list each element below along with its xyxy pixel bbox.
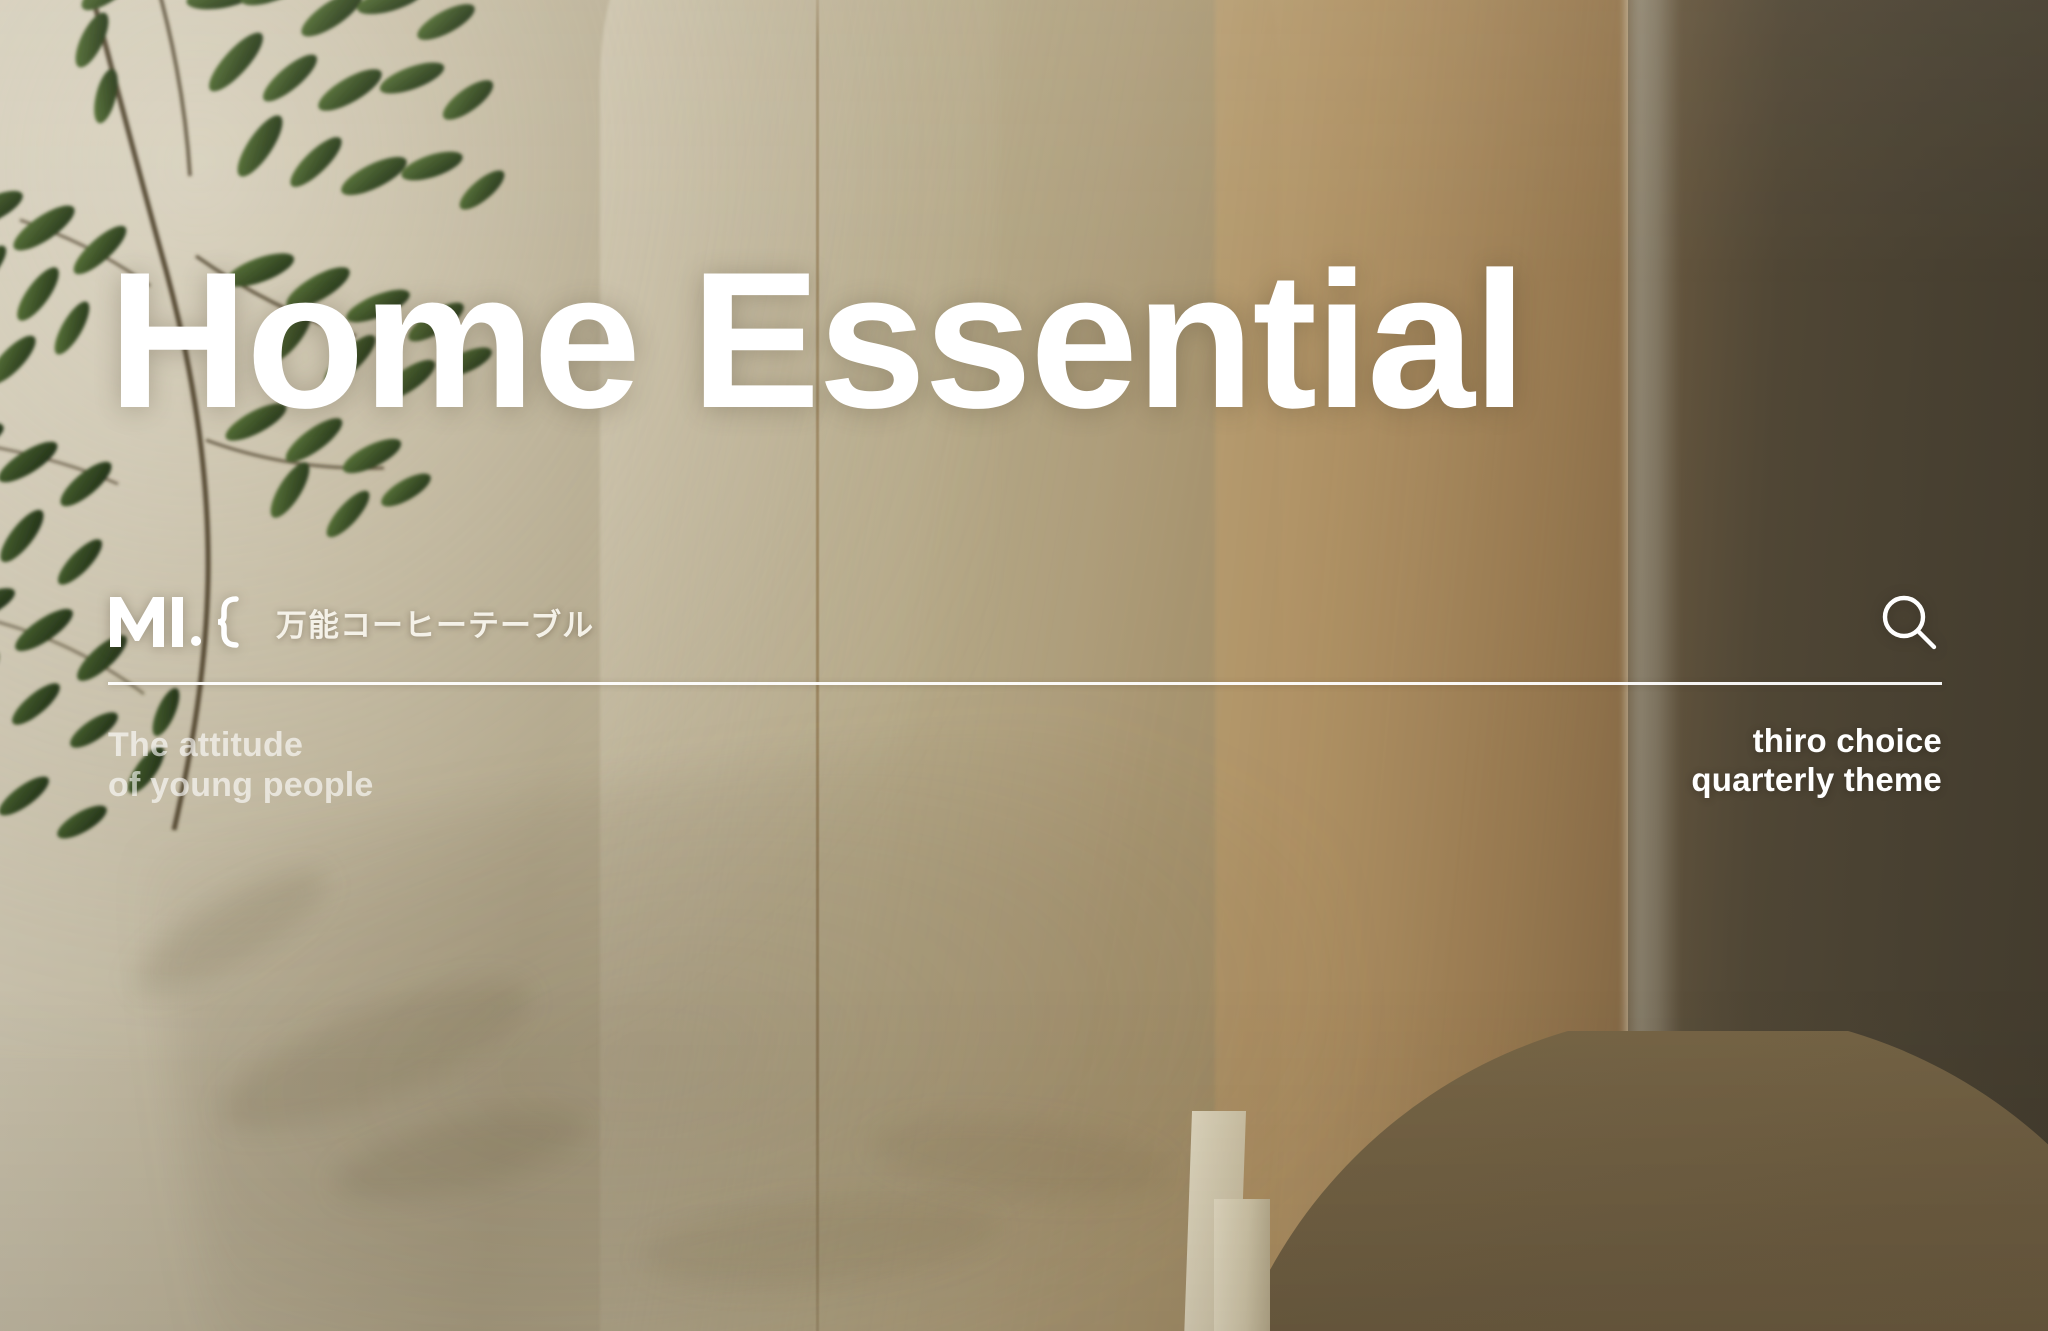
hero-content: Home Essential 万能コーヒーテーブル — [0, 0, 2048, 1331]
caption-right: thiro choice quarterly theme — [1691, 722, 1942, 799]
mi-s-wordmark-logo-icon — [108, 595, 240, 649]
caption-left: The attitude of young people — [108, 726, 374, 806]
search-icon — [1876, 643, 1942, 658]
hero-banner: Home Essential 万能コーヒーテーブル — [0, 0, 2048, 1331]
search-button[interactable] — [1876, 589, 1942, 655]
brand-logo[interactable] — [108, 595, 240, 649]
category-label: 万能コーヒーテーブル — [276, 600, 594, 645]
nav-divider — [108, 682, 1942, 685]
page-title: Home Essential — [108, 252, 1525, 430]
hero-nav-row: 万能コーヒーテーブル — [108, 586, 1942, 658]
